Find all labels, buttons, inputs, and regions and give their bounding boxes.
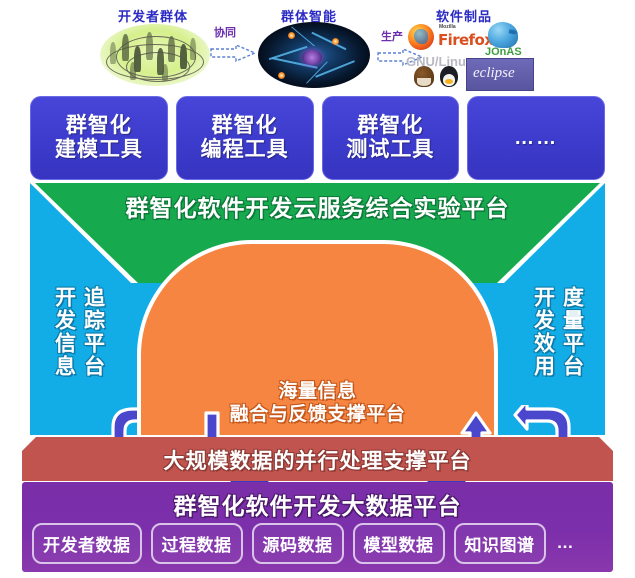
chip-more-ellipsis: … [555, 533, 575, 553]
chip-process-data[interactable]: 过程数据 [151, 523, 243, 564]
firefox-icon [408, 24, 434, 50]
label-collaborate: 协同 [214, 24, 236, 40]
tool-box-testing-line1: 群智化 [357, 114, 423, 138]
massive-info-platform-title: 海量信息 融合与反馈支撑平台 [141, 380, 494, 428]
tool-box-programming-line1: 群智化 [212, 114, 278, 138]
label-dev-info: 开发信息 [52, 286, 76, 378]
neuron-soma [302, 50, 322, 65]
eclipse-logo: eclipse [466, 58, 534, 91]
developer-crowd-graphic [100, 24, 210, 86]
chip-source-code-data[interactable]: 源码数据 [252, 523, 344, 564]
tux-penguin-icon [440, 66, 458, 87]
jonas-bird-icon [488, 22, 518, 48]
big-data-platform-block: 群智化软件开发大数据平台 开发者数据 过程数据 源码数据 模型数据 知识图谱 … [22, 482, 613, 572]
jonas-wordmark: JOnAS [485, 46, 522, 58]
label-produce: 生产 [381, 28, 403, 44]
massive-info-line1: 海量信息 [141, 380, 494, 404]
gnu-linux-wordmark: GNU/Linux [406, 54, 473, 69]
tool-box-more-ellipsis: …… [514, 127, 558, 150]
mozilla-wordmark: Mozilla [439, 24, 456, 30]
cloud-service-platform-title: 群智化软件开发云服务综合实验平台 [30, 189, 605, 223]
collaborate-arrow-icon [210, 44, 252, 60]
chip-developer-data[interactable]: 开发者数据 [32, 523, 142, 564]
label-dev-efficiency: 开发效用 [531, 286, 555, 378]
chip-model-data[interactable]: 模型数据 [353, 523, 445, 564]
diagram-root: 开发者群体 群体智能 软件制品 协同 [0, 0, 635, 578]
tool-box-modeling-line1: 群智化 [66, 114, 132, 138]
tool-box-programming[interactable]: 群智化 编程工具 [176, 96, 314, 180]
swarm-intelligence-graphic [258, 22, 370, 88]
tool-box-testing[interactable]: 群智化 测试工具 [322, 96, 460, 180]
massive-info-line2: 融合与反馈支撑平台 [141, 403, 494, 427]
top-illustration-row: 开发者群体 群体智能 软件制品 协同 [0, 0, 635, 92]
tool-box-more[interactable]: …… [467, 96, 605, 180]
tool-box-programming-line2: 编程工具 [201, 138, 289, 162]
parallel-processing-title: 大规模数据的并行处理支撑平台 [22, 445, 613, 475]
tool-box-testing-line2: 测试工具 [346, 138, 434, 162]
big-data-platform-title: 群智化软件开发大数据平台 [22, 487, 613, 521]
experiment-platform-block: 群智化软件开发云服务综合实验平台 海量信息 融合与反馈支撑平台 [30, 183, 605, 435]
gnu-head-icon [414, 66, 434, 87]
data-chip-row: 开发者数据 过程数据 源码数据 模型数据 知识图谱 … [32, 522, 603, 564]
massive-info-platform: 海量信息 融合与反馈支撑平台 [137, 240, 498, 435]
tool-boxes-row: 群智化 建模工具 群智化 编程工具 群智化 测试工具 …… [30, 96, 605, 180]
product-logos-group: Mozilla Firefox JOnAS GNU/Linux eclipse [406, 22, 532, 90]
tool-box-modeling-line2: 建模工具 [55, 138, 143, 162]
label-developer-crowd: 开发者群体 [118, 6, 188, 25]
label-tracking-platform: 追踪平台 [81, 286, 105, 378]
label-measurement-platform: 度量平台 [560, 286, 584, 378]
tool-box-modeling[interactable]: 群智化 建模工具 [30, 96, 168, 180]
eclipse-wordmark: eclipse [473, 65, 515, 82]
chip-knowledge-graph[interactable]: 知识图谱 [454, 523, 546, 564]
